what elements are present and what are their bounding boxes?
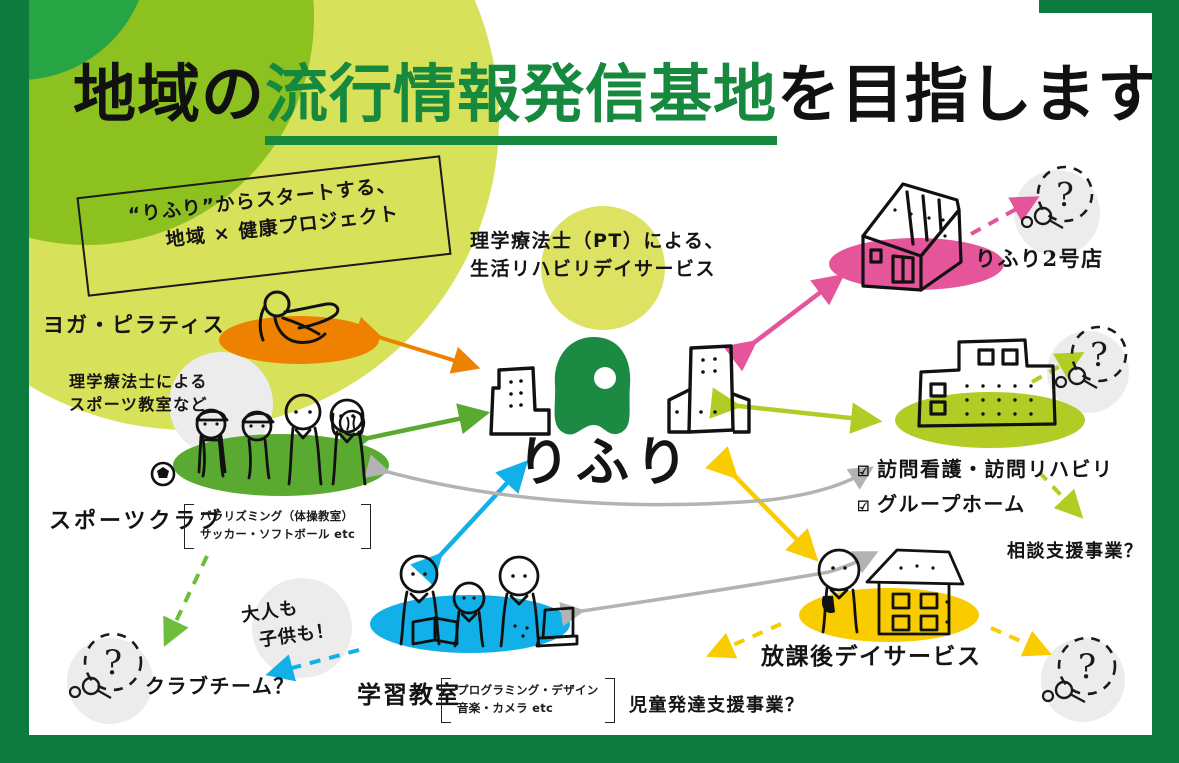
home-visit-question-bubble: ? (1043, 318, 1143, 408)
shop2-house-icon (835, 170, 975, 300)
frame-left (0, 0, 29, 763)
consult-label: 相談支援事業？ (1007, 539, 1144, 565)
home-visit-text-1: 訪問看護・訪問リハビリ (877, 457, 1114, 481)
soccer-ball-icon (149, 460, 177, 488)
frame-right (1152, 0, 1179, 763)
pt-service-label: 理学療法士（PT）による、 生活リハビリデイサービス (470, 228, 725, 283)
study-note: プログラミング・デザイン 音楽・カメラ etc (441, 678, 615, 721)
shop2-label: りふり2号店 (975, 244, 1104, 274)
child-dev-question-bubble: ? (1031, 628, 1131, 718)
arrow-yoga (372, 335, 469, 365)
frame-top-right-stub (1039, 0, 1179, 13)
study-people-icon (377, 548, 577, 656)
pt-sports-label: 理学療法士による スポーツ教室など (69, 370, 208, 416)
question-glyph: ? (1056, 175, 1074, 214)
question-glyph: ? (1078, 647, 1096, 687)
check-icon-2: ☑ (857, 499, 871, 515)
home-visit-text-2: グループホーム (877, 492, 1026, 516)
yoga-person-icon (241, 288, 361, 352)
sports-club-note-line-2: サッカー・ソフトボール etc (200, 525, 355, 543)
brand-name: りふり (517, 424, 694, 501)
sports-club-note-line-1: バラリズミング（体操教室） (200, 507, 355, 525)
frame-bottom (0, 735, 1179, 763)
frame-top-left-corner (0, 0, 29, 28)
club-team-label: クラブチーム？ (145, 672, 295, 701)
afterschool-house-icon (797, 538, 977, 650)
poster-stage: 地域の流行情報発信基地を目指します。 “りふり”からスタートする、 地域 × 健… (29, 0, 1152, 735)
check-icon-1: ☑ (857, 464, 871, 480)
pt-service-line-2: 生活リハビリデイサービス (470, 256, 725, 284)
poster-root: 地域の流行情報発信基地を目指します。 “りふり”からスタートする、 地域 × 健… (0, 0, 1179, 763)
pt-sports-line-2: スポーツ教室など (69, 393, 208, 416)
sports-club-note: バラリズミング（体操教室） サッカー・ソフトボール etc (184, 504, 371, 547)
home-visit-item-1: ☑訪問看護・訪問リハビリ (857, 452, 1114, 487)
pt-service-line-1: 理学療法士（PT）による、 (470, 228, 725, 256)
question-glyph: ? (104, 643, 122, 683)
shop2-question-bubble: ? (1009, 158, 1109, 248)
arrow-dashed-study-left (277, 650, 359, 672)
study-note-line-2: 音楽・カメラ etc (457, 699, 599, 717)
child-dev-label: 児童発達支援事業？ (629, 693, 805, 719)
home-visit-list: ☑訪問看護・訪問リハビリ ☑グループホーム (857, 452, 1114, 522)
question-glyph: ? (1090, 335, 1108, 374)
yoga-label: ヨガ・ピラティス (43, 310, 226, 340)
afterschool-label: 放課後デイサービス (761, 640, 982, 673)
club-team-question-bubble: ? (57, 628, 157, 708)
arrow-dashed-clubteam (169, 556, 207, 636)
study-note-line-1: プログラミング・デザイン (457, 681, 599, 699)
home-visit-item-2: ☑グループホーム (857, 487, 1114, 522)
pt-sports-line-1: 理学療法士による (69, 370, 208, 393)
baseball-icon (337, 408, 367, 438)
